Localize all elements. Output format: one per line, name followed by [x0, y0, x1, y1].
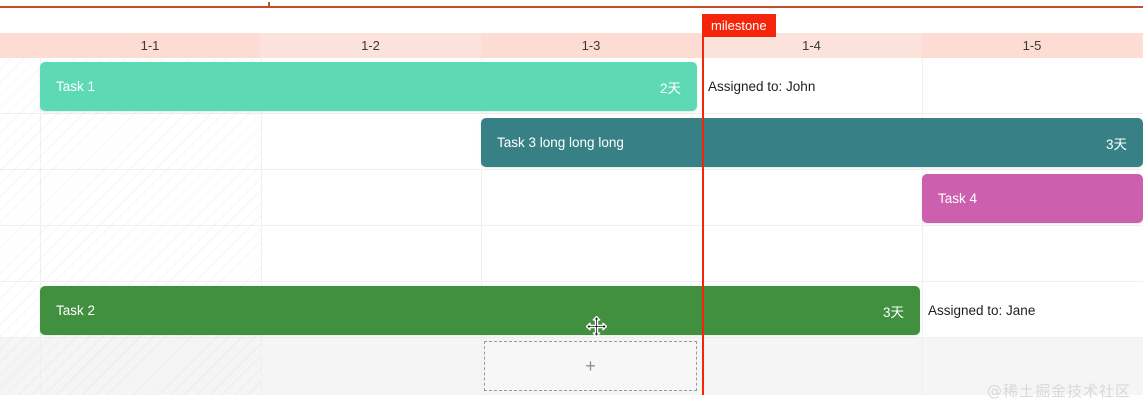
top-rule-tick: [268, 2, 270, 8]
task-bar-label: Task 3 long long long: [497, 135, 1096, 150]
task-bar[interactable]: Task 3 long long long3天: [481, 118, 1143, 167]
milestone-label[interactable]: milestone: [702, 14, 776, 37]
task-bar[interactable]: Task 4: [922, 174, 1143, 223]
move-cursor-icon: [586, 316, 607, 337]
task-duration-label: 3天: [1106, 133, 1127, 153]
add-task-placeholder[interactable]: +: [484, 341, 697, 391]
task-bar-label: Task 4: [938, 191, 1127, 206]
plus-icon: +: [585, 356, 596, 377]
gantt-row[interactable]: [0, 226, 1143, 282]
task-assignee-label: Assigned to: Jane: [928, 286, 1035, 335]
grid-column-divider: [922, 58, 923, 395]
watermark: @稀土掘金技术社区: [987, 380, 1131, 401]
timeline-column-header: 1-5: [922, 33, 1143, 58]
milestone-line: [702, 37, 704, 395]
timeline-header: 1-11-21-31-41-5: [0, 33, 1143, 58]
task-bar-label: Task 2: [56, 303, 873, 318]
timeline-column-header: 1-2: [261, 33, 481, 58]
task-assignee-label: Assigned to: John: [708, 62, 815, 111]
task-bar-label: Task 1: [56, 79, 650, 94]
top-rule-divider: [0, 6, 1143, 8]
task-duration-label: 2天: [660, 77, 681, 97]
task-bar[interactable]: Task 12天: [40, 62, 697, 111]
task-duration-label: 3天: [883, 301, 904, 321]
timeline-column-header: 1-1: [40, 33, 261, 58]
task-bar[interactable]: Task 23天: [40, 286, 920, 335]
gantt-chart: 1-11-21-31-41-5 milestone + @稀土掘金技术社区 Ta…: [0, 0, 1143, 411]
timeline-column-header: 1-3: [481, 33, 702, 58]
